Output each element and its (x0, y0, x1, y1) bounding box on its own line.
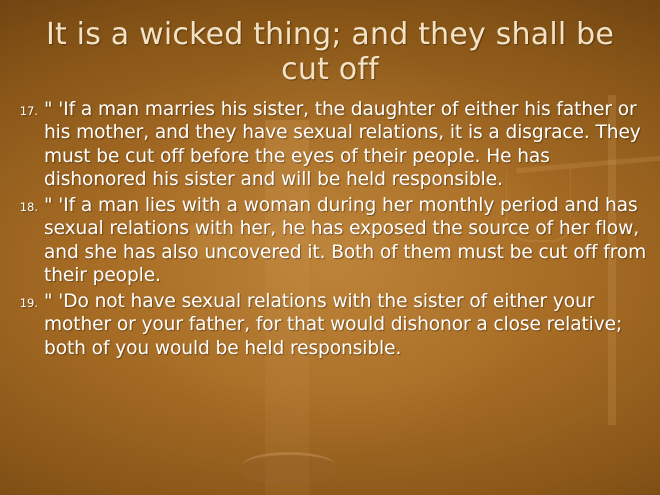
verse-number: 19. (8, 290, 44, 316)
verse-text: " 'If a man lies with a woman during her… (44, 194, 650, 288)
slide-content: It is a wicked thing; and they shall be … (0, 0, 660, 495)
verse-text: " 'If a man marries his sister, the daug… (44, 98, 650, 192)
list-item: 19. " 'Do not have sexual relations with… (8, 290, 650, 361)
verse-list: 17. " 'If a man marries his sister, the … (0, 98, 660, 361)
list-item: 17. " 'If a man marries his sister, the … (8, 98, 650, 192)
list-item: 18. " 'If a man lies with a woman during… (8, 194, 650, 288)
verse-number: 18. (8, 194, 44, 220)
verse-text: " 'Do not have sexual relations with the… (44, 290, 650, 361)
presentation-slide: It is a wicked thing; and they shall be … (0, 0, 660, 495)
slide-title: It is a wicked thing; and they shall be … (0, 0, 660, 88)
verse-number: 17. (8, 98, 44, 124)
